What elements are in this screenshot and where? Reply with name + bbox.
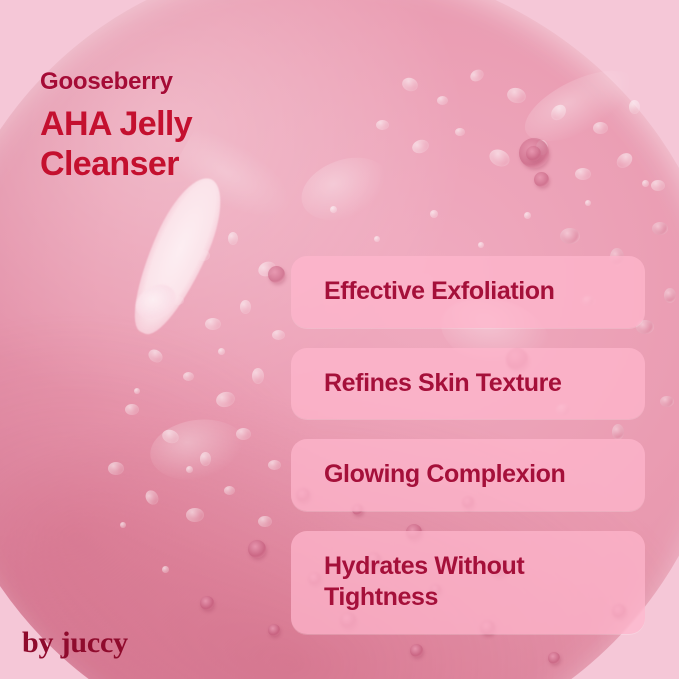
headline-block: Gooseberry AHA Jelly Cleanser xyxy=(40,68,192,184)
feature-label: Refines Skin Texture xyxy=(324,368,561,400)
product-name-line-2: Cleanser xyxy=(40,144,192,184)
feature-pill-texture: Refines Skin Texture xyxy=(291,348,645,420)
feature-label: Hydrates Without Tightness xyxy=(324,551,524,614)
feature-pill-hydration: Hydrates Without Tightness xyxy=(291,531,645,634)
product-name-line-1: AHA Jelly xyxy=(40,104,192,144)
feature-pill-complexion: Glowing Complexion xyxy=(291,439,645,511)
product-eyebrow: Gooseberry xyxy=(40,68,192,96)
feature-list: Effective Exfoliation Refines Skin Textu… xyxy=(291,256,645,634)
page-title: AHA Jelly Cleanser xyxy=(40,104,192,184)
feature-pill-exfoliation: Effective Exfoliation xyxy=(291,256,645,328)
brand-logo: by juccy xyxy=(22,628,128,658)
product-infographic-canvas: Gooseberry AHA Jelly Cleanser Effective … xyxy=(0,0,679,679)
feature-label: Glowing Complexion xyxy=(324,459,565,491)
feature-label: Effective Exfoliation xyxy=(324,276,555,308)
